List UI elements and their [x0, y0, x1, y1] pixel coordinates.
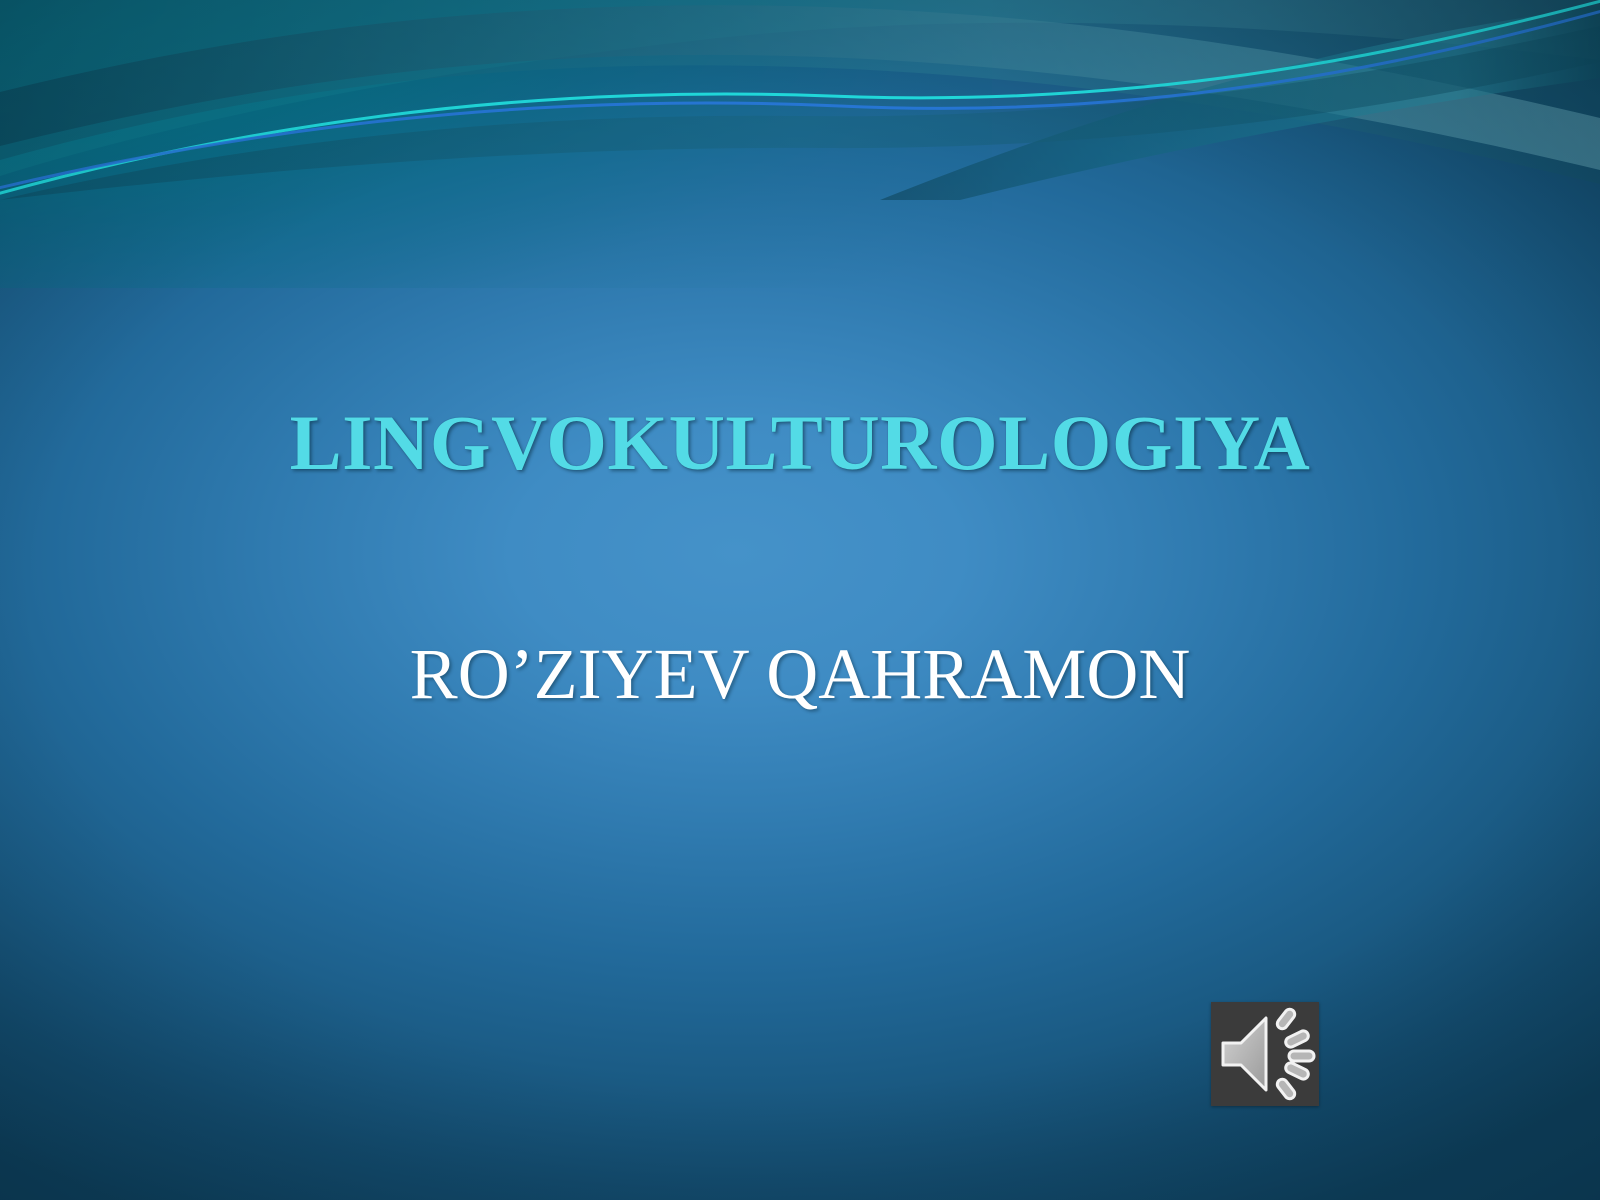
slide-vignette [0, 0, 1600, 1200]
presentation-slide: LINGVOKULTUROLOGIYA RO’ZIYEV QAHRAMON [0, 0, 1600, 1200]
speaker-audio-icon [1211, 1002, 1319, 1106]
slide-subtitle-author: RO’ZIYEV QAHRAMON [0, 638, 1600, 710]
audio-media-button[interactable] [1211, 1002, 1319, 1106]
slide-title: LINGVOKULTUROLOGIYA [0, 404, 1600, 482]
